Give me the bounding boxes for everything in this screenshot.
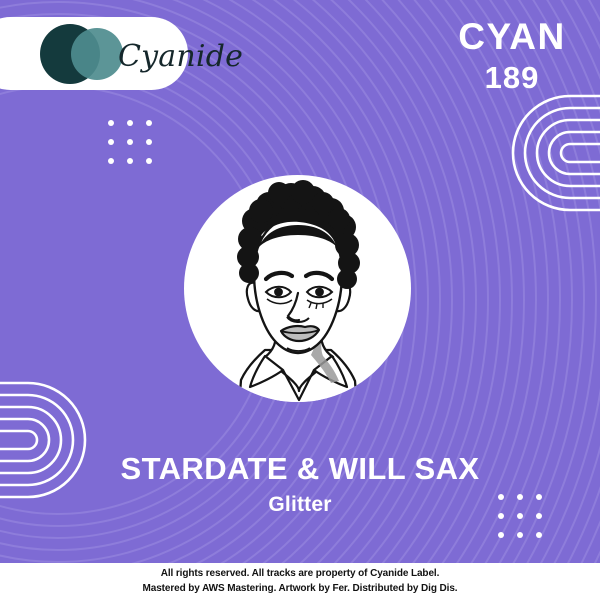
- catalogue-code: CYAN: [452, 18, 572, 56]
- dot-grid-left: [108, 120, 152, 164]
- catalogue-number: CYAN 189: [452, 18, 572, 96]
- logo-circle-light: [71, 28, 123, 80]
- portrait-medallion: [184, 175, 411, 402]
- brand-badge: Cyanide: [0, 17, 188, 90]
- album-cover: Cyanide CYAN 189: [0, 0, 600, 600]
- catalogue-release-number: 189: [452, 59, 572, 96]
- brand-name: Cyanide: [118, 39, 243, 74]
- portrait-illustration: [203, 175, 393, 402]
- artist-name: STARDATE & WILL SAX: [0, 452, 600, 486]
- footer-line-2: Mastered by AWS Mastering. Artwork by Fe…: [143, 582, 458, 597]
- arc-ornament-top-right: [498, 88, 600, 223]
- title-block: STARDATE & WILL SAX Glitter: [0, 452, 600, 517]
- cyanide-logo-icon: Cyanide: [40, 23, 118, 85]
- footer-line-1: All rights reserved. All tracks are prop…: [161, 567, 440, 582]
- track-title: Glitter: [0, 493, 600, 517]
- footer-credits: All rights reserved. All tracks are prop…: [0, 563, 600, 600]
